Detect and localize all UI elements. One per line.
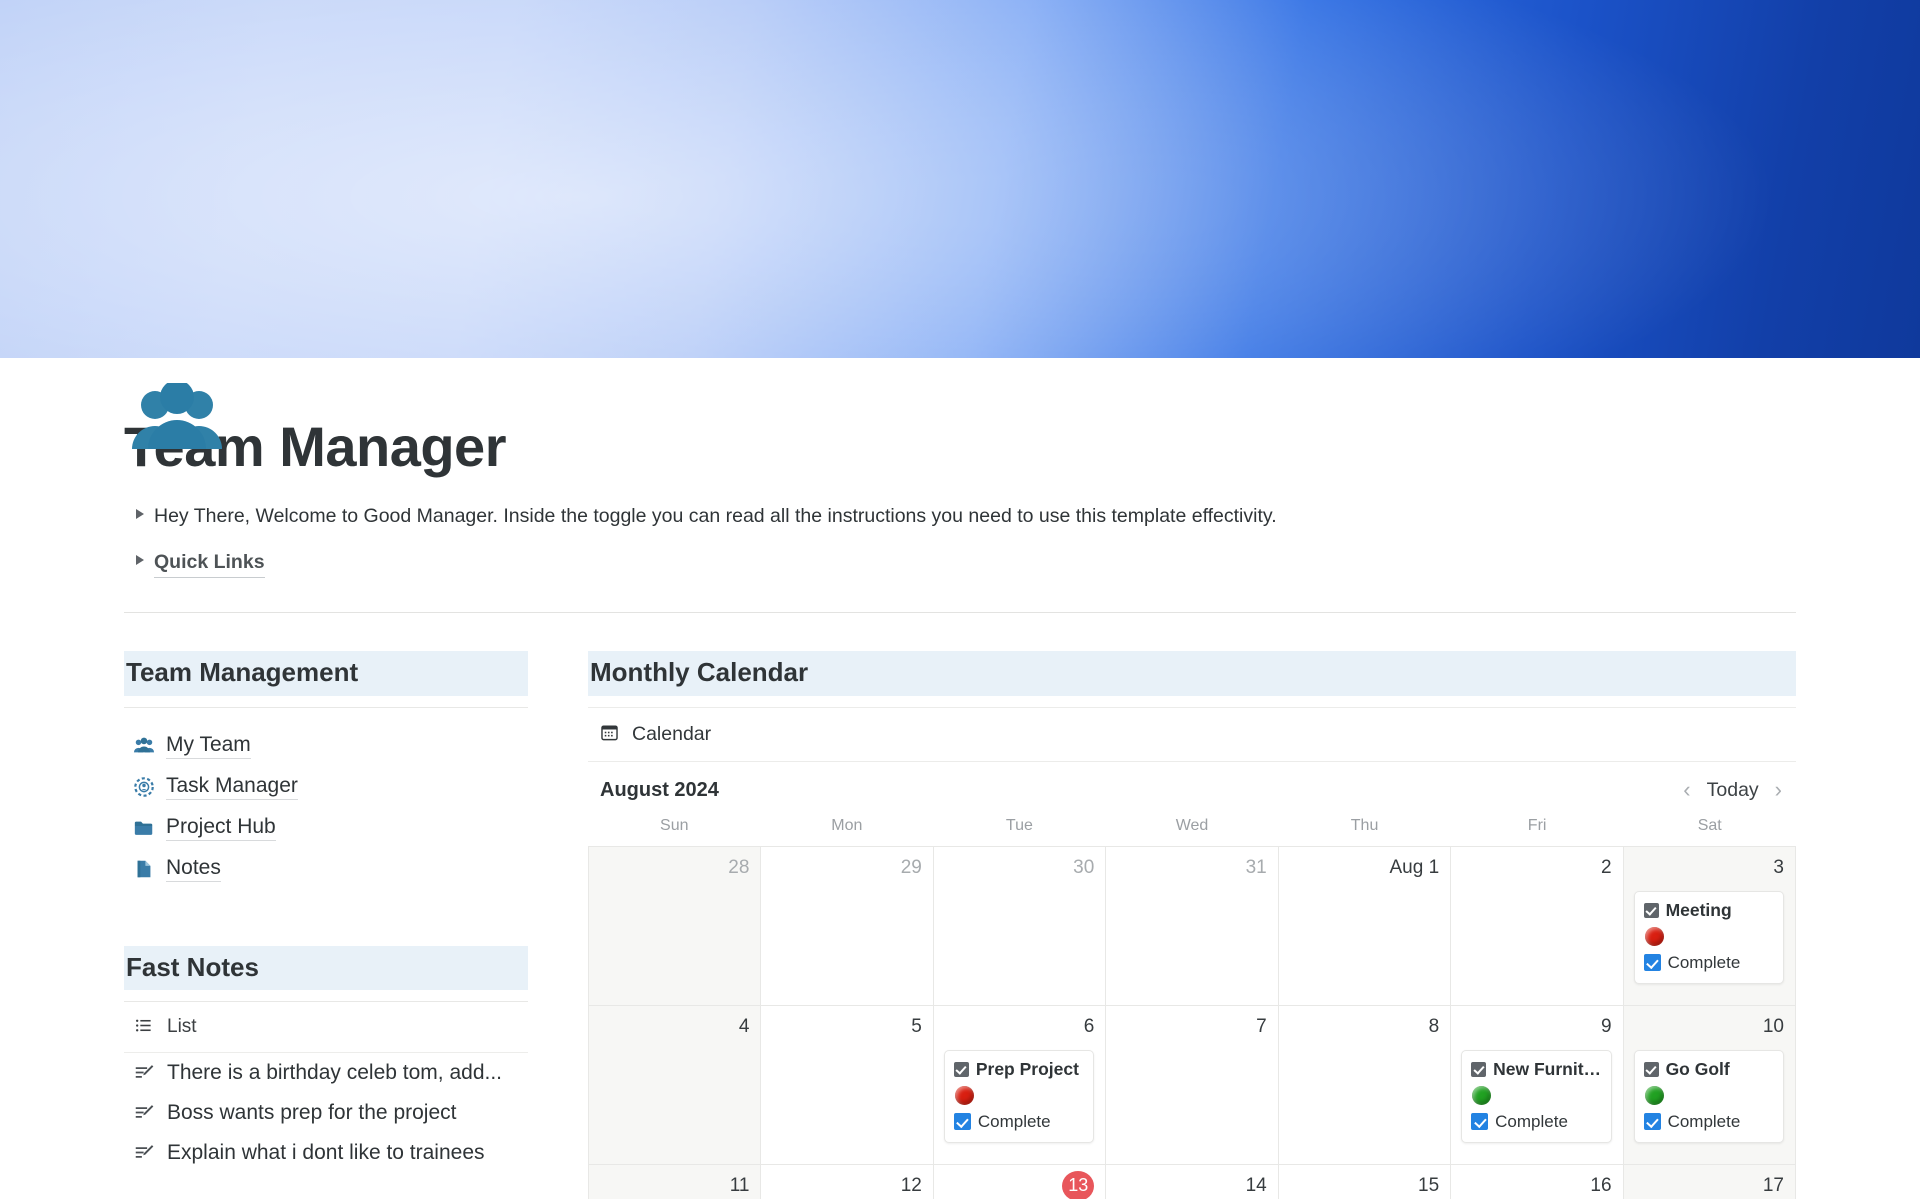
- complete-checkbox[interactable]: [1644, 1113, 1661, 1130]
- complete-checkbox[interactable]: [954, 1113, 971, 1130]
- day-number: Aug 1: [1289, 856, 1439, 881]
- sidebar-item-label: Task Manager: [166, 774, 298, 800]
- fast-notes-view-tab[interactable]: List: [124, 1002, 528, 1052]
- day-header: Mon: [761, 817, 934, 846]
- sidebar-item-my-team[interactable]: My Team: [124, 726, 528, 767]
- divider: [124, 612, 1796, 613]
- day-number: 10: [1634, 1015, 1784, 1040]
- day-header: Sat: [1623, 817, 1796, 846]
- calendar-day-cell[interactable]: 12: [761, 1165, 933, 1199]
- calendar-nav-controls: ‹ Today ›: [1683, 779, 1782, 802]
- fast-notes-view-label: List: [167, 1016, 197, 1038]
- day-number: 5: [771, 1015, 921, 1040]
- spacer: [124, 890, 528, 946]
- content-columns: Team Management My Team Task Manager: [124, 651, 1796, 1199]
- calendar-event-card[interactable]: Prep ProjectComplete: [944, 1050, 1094, 1143]
- day-number: 29: [771, 856, 921, 881]
- calendar-event-card[interactable]: MeetingComplete: [1634, 891, 1784, 984]
- complete-checkbox[interactable]: [1644, 954, 1661, 971]
- calendar-nav-bar: August 2024 ‹ Today ›: [588, 762, 1796, 817]
- day-number: 16: [1461, 1174, 1611, 1199]
- calendar-day-cell[interactable]: 17: [1624, 1165, 1796, 1199]
- day-header: Sun: [588, 817, 761, 846]
- sidebar-item-notes[interactable]: Notes: [124, 849, 528, 890]
- event-status-label: Complete: [1668, 953, 1741, 973]
- today-button[interactable]: Today: [1707, 779, 1759, 802]
- event-title-row: New Furnit…: [1471, 1059, 1601, 1080]
- toggle-triangle-icon[interactable]: [136, 509, 144, 519]
- calendar-day-cell[interactable]: 9New Furnit…Complete: [1451, 1006, 1623, 1165]
- calendar-view-tab[interactable]: Calendar: [588, 708, 1796, 761]
- toggle-welcome-text: Hey There, Welcome to Good Manager. Insi…: [154, 502, 1277, 530]
- day-header: Tue: [933, 817, 1106, 846]
- calendar-view-label: Calendar: [632, 723, 711, 746]
- day-number: 17: [1634, 1174, 1784, 1199]
- calendar-event-card[interactable]: New Furnit…Complete: [1461, 1050, 1611, 1143]
- list-item-label: Boss wants prep for the project: [167, 1101, 456, 1125]
- fast-notes-list: There is a birthday celeb tom, add... Bo…: [124, 1053, 528, 1173]
- day-header: Wed: [1106, 817, 1279, 846]
- calendar-day-cell[interactable]: 8: [1279, 1006, 1451, 1165]
- event-title: Go Golf: [1666, 1059, 1730, 1080]
- today-date-badge: 13: [944, 1174, 1094, 1199]
- calendar-day-cell[interactable]: 4: [589, 1006, 761, 1165]
- calendar-icon: [600, 723, 622, 745]
- day-number: 8: [1289, 1015, 1439, 1040]
- calendar-day-cell[interactable]: 10Go GolfComplete: [1624, 1006, 1796, 1165]
- calendar-month-label: August 2024: [600, 779, 719, 802]
- checkbox-checked-icon[interactable]: [1471, 1062, 1486, 1077]
- calendar-week-row: 28293031Aug 123MeetingComplete: [589, 847, 1796, 1006]
- list-item-label: There is a birthday celeb tom, add...: [167, 1061, 502, 1085]
- divider: [124, 707, 528, 708]
- right-column: Monthly Calendar Calendar August 2024 ‹ …: [588, 651, 1796, 1199]
- toggle-quick-links-text[interactable]: Quick Links: [154, 548, 265, 578]
- day-number: 30: [944, 856, 1094, 881]
- chevron-right-icon[interactable]: ›: [1775, 779, 1782, 801]
- people-group-icon: [133, 735, 155, 757]
- target-dashed-icon: [133, 776, 155, 798]
- day-number: 2: [1461, 856, 1611, 881]
- event-title-row: Go Golf: [1644, 1059, 1774, 1080]
- calendar-day-headers: Sun Mon Tue Wed Thu Fri Sat: [588, 817, 1796, 846]
- edit-note-icon: [134, 1102, 156, 1124]
- page-body: Team Manager Hey There, Welcome to Good …: [0, 416, 1920, 1199]
- calendar-week-row: 456Prep ProjectComplete789New Furnit…Com…: [589, 1006, 1796, 1165]
- status-dot-icon: [1645, 927, 1664, 946]
- sidebar-item-project-hub[interactable]: Project Hub: [124, 808, 528, 849]
- calendar-day-cell[interactable]: 11: [589, 1165, 761, 1199]
- team-management-links: My Team Task Manager Project Hub: [124, 726, 528, 890]
- checkbox-checked-icon[interactable]: [1644, 1062, 1659, 1077]
- day-number: 9: [1461, 1015, 1611, 1040]
- day-number: 4: [599, 1015, 749, 1040]
- people-group-icon: [124, 383, 230, 449]
- day-number: 28: [599, 856, 749, 881]
- event-title-row: Meeting: [1644, 900, 1774, 921]
- calendar-day-cell[interactable]: 14: [1106, 1165, 1278, 1199]
- day-number: 3: [1634, 856, 1784, 881]
- list-item[interactable]: Boss wants prep for the project: [124, 1093, 528, 1133]
- sidebar-item-label: Project Hub: [166, 815, 276, 841]
- event-title: New Furnit…: [1493, 1059, 1601, 1080]
- team-management-heading: Team Management: [124, 651, 528, 696]
- day-number: 31: [1116, 856, 1266, 881]
- calendar-day-cell[interactable]: 29: [761, 847, 933, 1006]
- calendar-day-cell[interactable]: 30: [934, 847, 1106, 1006]
- fast-notes-heading: Fast Notes: [124, 946, 528, 991]
- status-dot-icon: [1472, 1086, 1491, 1105]
- hero-banner: [0, 0, 1920, 358]
- chevron-left-icon[interactable]: ‹: [1683, 779, 1690, 801]
- list-item-label: Explain what i dont like to trainees: [167, 1141, 485, 1165]
- page-title: Team Manager: [124, 416, 1796, 478]
- event-status-row: Complete: [1644, 1112, 1774, 1132]
- toggle-triangle-icon[interactable]: [136, 555, 144, 565]
- today-pill: 13: [1062, 1171, 1094, 1199]
- calendar-event-card[interactable]: Go GolfComplete: [1634, 1050, 1784, 1143]
- event-status-label: Complete: [978, 1112, 1051, 1132]
- calendar-day-cell[interactable]: Aug 1: [1279, 847, 1451, 1006]
- edit-note-icon: [134, 1142, 156, 1164]
- status-dot-icon: [955, 1086, 974, 1105]
- day-number: 14: [1116, 1174, 1266, 1199]
- document-icon: [133, 858, 155, 880]
- event-title: Meeting: [1666, 900, 1732, 921]
- day-number: 7: [1116, 1015, 1266, 1040]
- calendar-day-cell[interactable]: 5: [761, 1006, 933, 1165]
- sidebar-item-task-manager[interactable]: Task Manager: [124, 767, 528, 808]
- event-status-label: Complete: [1668, 1112, 1741, 1132]
- calendar-day-cell[interactable]: 15: [1279, 1165, 1451, 1199]
- complete-checkbox[interactable]: [1471, 1113, 1488, 1130]
- toggle-welcome[interactable]: Hey There, Welcome to Good Manager. Insi…: [124, 502, 1796, 530]
- status-dot-icon: [1645, 1086, 1664, 1105]
- day-number: 15: [1289, 1174, 1439, 1199]
- folder-icon: [133, 817, 155, 839]
- event-status-row: Complete: [1471, 1112, 1601, 1132]
- calendar-day-cell[interactable]: 31: [1106, 847, 1278, 1006]
- sidebar-item-label: Notes: [166, 856, 221, 882]
- list-item[interactable]: There is a birthday celeb tom, add...: [124, 1053, 528, 1093]
- calendar-day-cell[interactable]: 13: [934, 1165, 1106, 1199]
- calendar-week-row: 11121314151617: [589, 1165, 1796, 1199]
- toggle-quick-links[interactable]: Quick Links: [124, 548, 1796, 578]
- day-header: Fri: [1451, 817, 1624, 846]
- event-title-row: Prep Project: [954, 1059, 1084, 1080]
- calendar-grid: 28293031Aug 123MeetingComplete456Prep Pr…: [588, 846, 1796, 1199]
- monthly-calendar-heading: Monthly Calendar: [588, 651, 1796, 696]
- list-item[interactable]: Explain what i dont like to trainees: [124, 1133, 528, 1173]
- event-status-row: Complete: [1644, 953, 1774, 973]
- checkbox-checked-icon[interactable]: [1644, 903, 1659, 918]
- day-number: 12: [771, 1174, 921, 1199]
- list-view-icon: [134, 1016, 156, 1038]
- calendar-day-cell[interactable]: 6Prep ProjectComplete: [934, 1006, 1106, 1165]
- day-number: 11: [599, 1174, 749, 1199]
- event-title: Prep Project: [976, 1059, 1079, 1080]
- calendar-day-cell[interactable]: 2: [1451, 847, 1623, 1006]
- day-number: 6: [944, 1015, 1094, 1040]
- event-status-row: Complete: [954, 1112, 1084, 1132]
- edit-note-icon: [134, 1062, 156, 1084]
- event-status-label: Complete: [1495, 1112, 1568, 1132]
- day-header: Thu: [1278, 817, 1451, 846]
- calendar-day-cell[interactable]: 28: [589, 847, 761, 1006]
- calendar-day-cell[interactable]: 3MeetingComplete: [1624, 847, 1796, 1006]
- calendar-day-cell[interactable]: 7: [1106, 1006, 1278, 1165]
- calendar-day-cell[interactable]: 16: [1451, 1165, 1623, 1199]
- checkbox-checked-icon[interactable]: [954, 1062, 969, 1077]
- left-column: Team Management My Team Task Manager: [124, 651, 528, 1199]
- sidebar-item-label: My Team: [166, 733, 251, 759]
